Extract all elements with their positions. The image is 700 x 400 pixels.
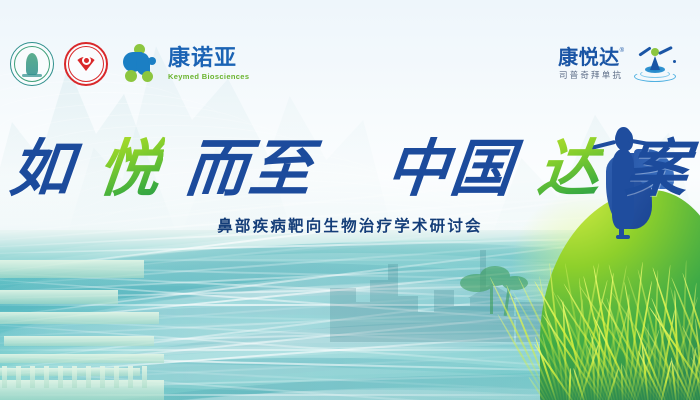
product-wordmark: 康悦达 ® 司普奇拜单抗 [558, 47, 624, 81]
red-circular-seal [64, 42, 108, 86]
title-char-5: 达 [534, 132, 606, 205]
building-slab [0, 380, 164, 400]
building-column [58, 366, 63, 388]
product-name-cn: 康悦达 [558, 47, 620, 67]
building-slab [0, 368, 140, 376]
building-column [142, 366, 147, 388]
title-char-6: 案 [622, 132, 694, 205]
building-column [72, 366, 77, 388]
product-generic-name: 司普奇拜单抗 [559, 72, 623, 81]
building-column [30, 366, 35, 388]
green-circular-seal [10, 42, 54, 86]
building-column [16, 366, 21, 388]
building-column [44, 366, 49, 388]
title-char-1: 如 [6, 132, 78, 205]
building-column [86, 366, 91, 388]
building-slab [0, 312, 159, 324]
left-building-silhouette [0, 250, 164, 400]
keymed-name-cn: 康诺亚 [168, 48, 249, 70]
building-column [114, 366, 119, 388]
building-slab [0, 290, 118, 304]
event-banner: 康诺亚 Keymed Biosciences 康悦达 ® 司普奇拜单抗 [0, 0, 700, 400]
sponsor-logo-row: 康诺亚 Keymed Biosciences [10, 42, 249, 86]
event-subtitle: 鼻部疾病靶向生物治疗学术研讨会 [0, 214, 700, 236]
keymed-wordmark: 康诺亚 Keymed Biosciences [168, 48, 249, 81]
building-slab [0, 354, 164, 363]
building-column [128, 366, 133, 388]
seal-emblem [26, 53, 38, 75]
building-column [100, 366, 105, 388]
title-char-2: 悦 [94, 132, 166, 205]
title-block: 如 悦 而至 中国 达 案 鼻部疾病靶向生物治疗学术研讨会 [0, 138, 700, 236]
keymed-name-en: Keymed Biosciences [168, 73, 249, 81]
skyline-building [392, 296, 418, 342]
main-title: 如 悦 而至 中国 达 案 [0, 138, 700, 200]
registered-mark: ® [620, 48, 624, 54]
product-logo: 康悦达 ® 司普奇拜单抗 [558, 44, 678, 84]
seal-heart-emblem [75, 55, 97, 73]
title-char-3: 而至 [182, 132, 318, 205]
building-column [2, 366, 7, 388]
building-slab [4, 336, 154, 346]
title-char-4: 中国 [383, 132, 519, 205]
building-slab [0, 260, 144, 278]
product-name-row: 康悦达 ® [558, 47, 624, 67]
keymed-figure-mark [122, 44, 162, 84]
tree-silhouette [460, 260, 550, 330]
seal-emblem-base [22, 74, 42, 77]
person-splash-mark [632, 44, 678, 84]
keymed-logo: 康诺亚 Keymed Biosciences [122, 44, 249, 84]
